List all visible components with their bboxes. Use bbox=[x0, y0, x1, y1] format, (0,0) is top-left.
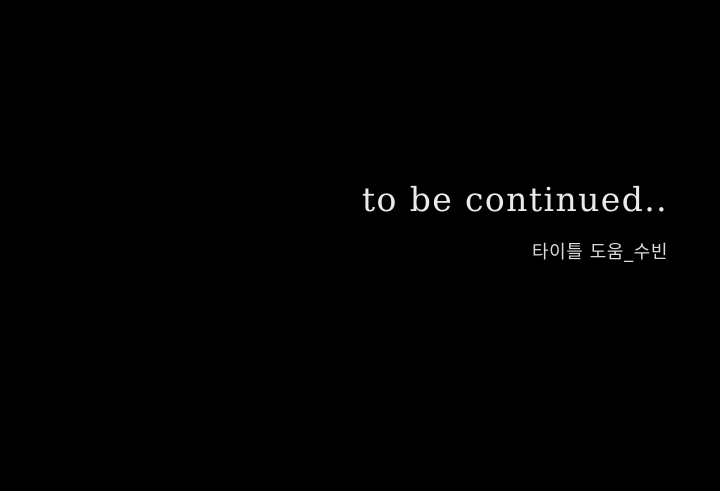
end-card-credit: 타이틀 도움_수빈 bbox=[0, 240, 668, 266]
video-end-card: to be continued.. 타이틀 도움_수빈 bbox=[0, 0, 720, 491]
end-card-title: to be continued.. bbox=[0, 180, 668, 220]
